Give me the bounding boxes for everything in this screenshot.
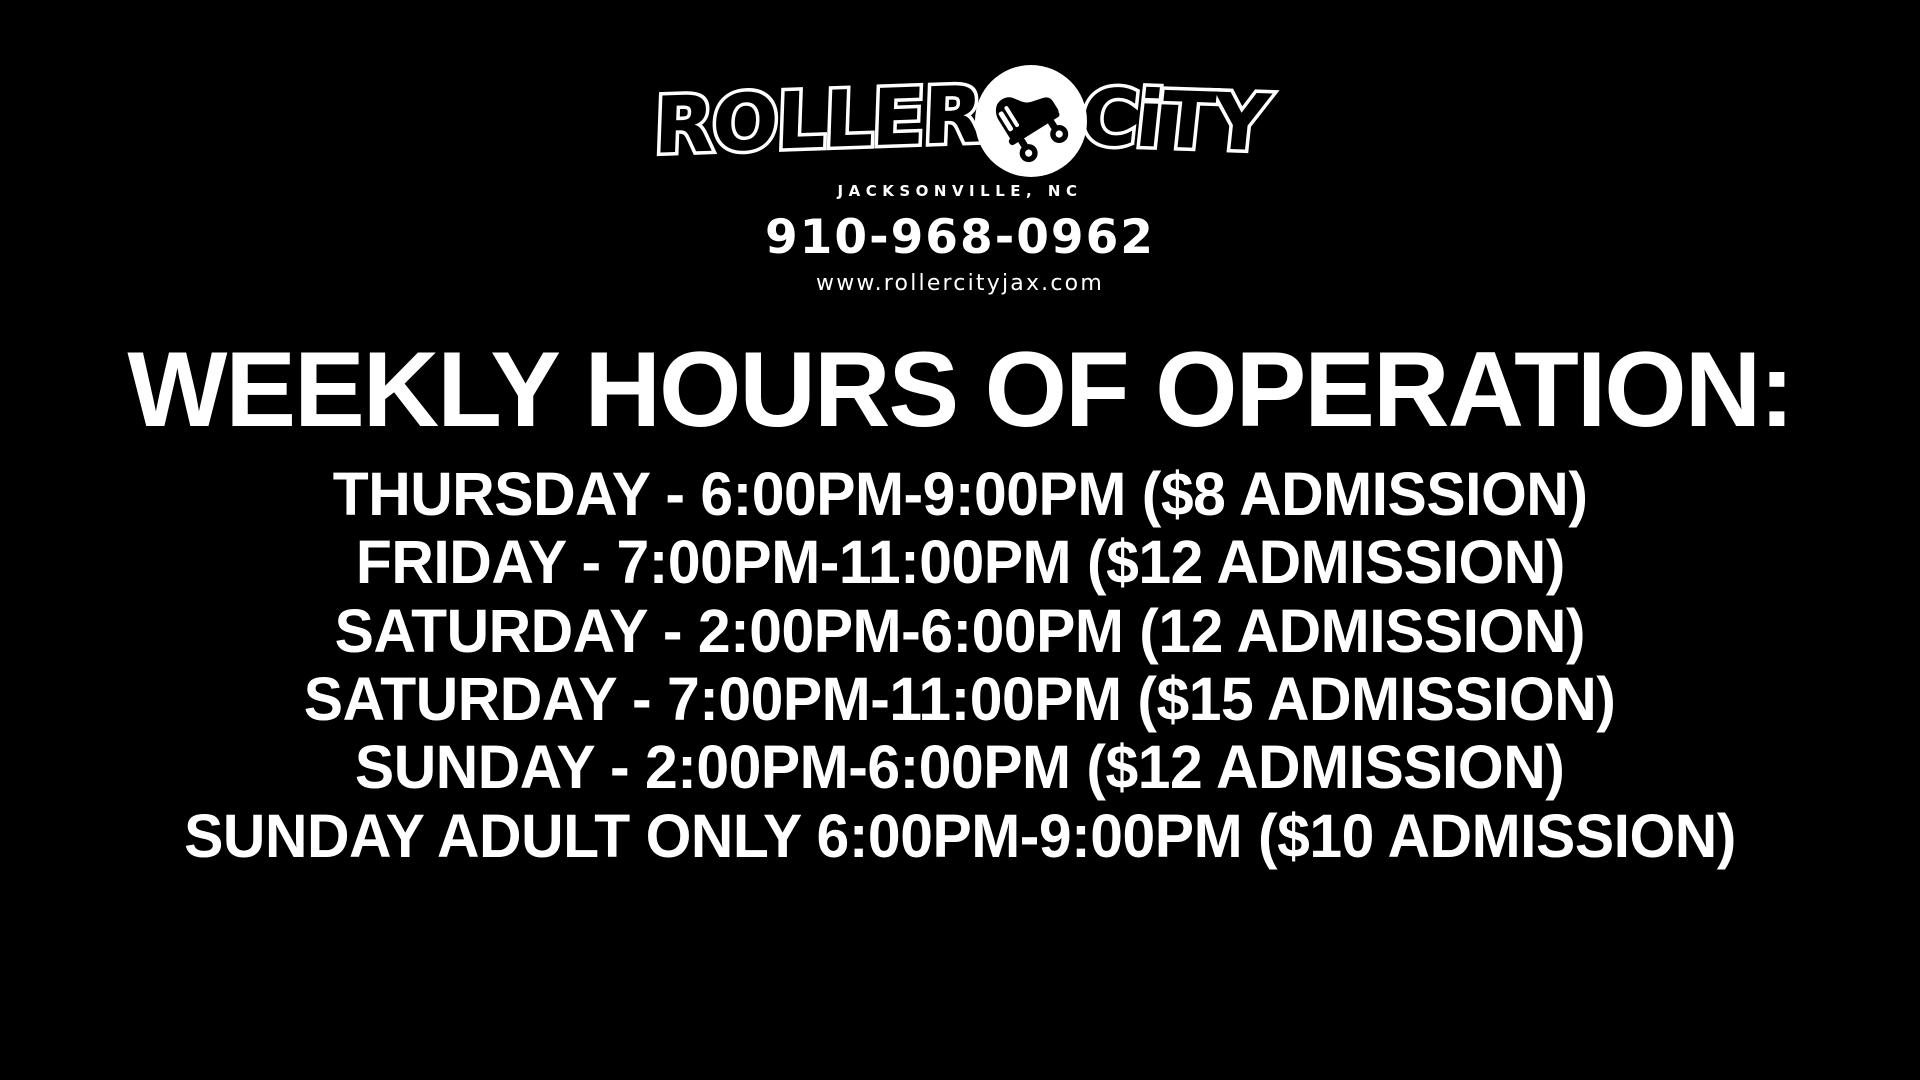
logo-location-text: JACKSONVILLE, NC bbox=[838, 182, 1083, 200]
hours-of-operation-poster: ROLLER bbox=[0, 0, 1920, 1080]
phone-number[interactable]: 910-968-0962 bbox=[765, 214, 1155, 261]
schedule-row: SATURDAY - 2:00PM-6:00PM (12 ADMISSION) bbox=[335, 597, 1585, 665]
logo-word-roller: ROLLER bbox=[652, 76, 982, 166]
schedule-row: THURSDAY - 6:00PM-9:00PM ($8 ADMISSION) bbox=[333, 460, 1588, 528]
schedule-row: SATURDAY - 7:00PM-11:00PM ($15 ADMISSION… bbox=[304, 665, 1616, 733]
schedule-row: FRIDAY - 7:00PM-11:00PM ($12 ADMISSION) bbox=[356, 528, 1565, 596]
roller-city-logo: ROLLER bbox=[640, 62, 1280, 295]
schedule-list: THURSDAY - 6:00PM-9:00PM ($8 ADMISSION) … bbox=[0, 460, 1920, 870]
logo-wordmark: ROLLER bbox=[710, 62, 1210, 180]
schedule-row: SUNDAY ADULT ONLY 6:00PM-9:00PM ($10 ADM… bbox=[184, 802, 1736, 870]
website-url[interactable]: www.rollercityjax.com bbox=[816, 273, 1104, 295]
logo-word-city: CiTY bbox=[1077, 79, 1271, 163]
roller-skate-icon bbox=[975, 65, 1087, 177]
page-title: WEEKLY HOURS OF OPERATION: bbox=[127, 335, 1792, 444]
schedule-row: SUNDAY - 2:00PM-6:00PM ($12 ADMISSION) bbox=[355, 733, 1564, 801]
